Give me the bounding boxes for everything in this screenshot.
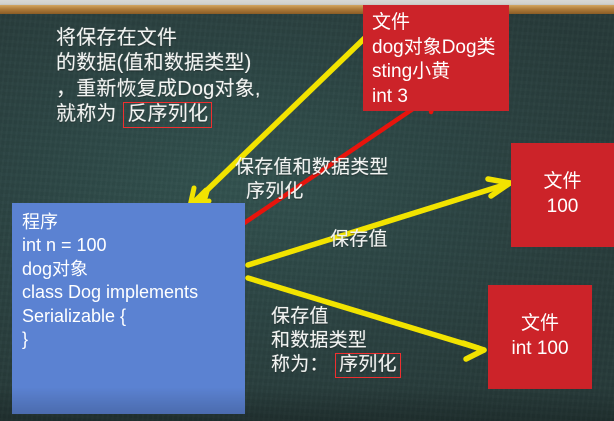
deserialize-keyword-highlight: 反序列化 bbox=[123, 102, 212, 127]
file-100-box: 文件 100 bbox=[511, 143, 614, 247]
file-object-box-text: 文件 dog对象Dog类 sting小黄 int 3 bbox=[372, 11, 509, 110]
file-object-box: 文件 dog对象Dog类 sting小黄 int 3 bbox=[363, 5, 509, 111]
file-100-value: 100 bbox=[547, 195, 579, 220]
file-int-100-title: 文件 bbox=[521, 312, 559, 337]
blackboard-wood-frame bbox=[0, 5, 614, 14]
chalkboard-screenshot: 将保存在文件 的数据(值和数据类型) ，重新恢复成Dog对象, 就称为 反序列化… bbox=[0, 0, 614, 421]
file-int-100-box: 文件 int 100 bbox=[488, 285, 592, 389]
file-100-title: 文件 bbox=[543, 170, 581, 195]
serialize-top-note: 保存值和数据类型 序列化 bbox=[235, 156, 389, 204]
program-box: 程序 int n = 100 dog对象 class Dog implement… bbox=[12, 203, 245, 414]
serialize-bottom-note: 保存值 和数据类型 称为： 序列化 bbox=[271, 305, 402, 378]
save-value-note: 保存值 bbox=[330, 228, 388, 252]
file-int-100-value: int 100 bbox=[511, 337, 568, 362]
program-box-text: 程序 int n = 100 dog对象 class Dog implement… bbox=[22, 211, 245, 351]
serialize-keyword-highlight: 序列化 bbox=[335, 353, 401, 377]
deserialize-note: 将保存在文件 的数据(值和数据类型) ，重新恢复成Dog对象, 就称为 反序列化 bbox=[56, 26, 261, 128]
